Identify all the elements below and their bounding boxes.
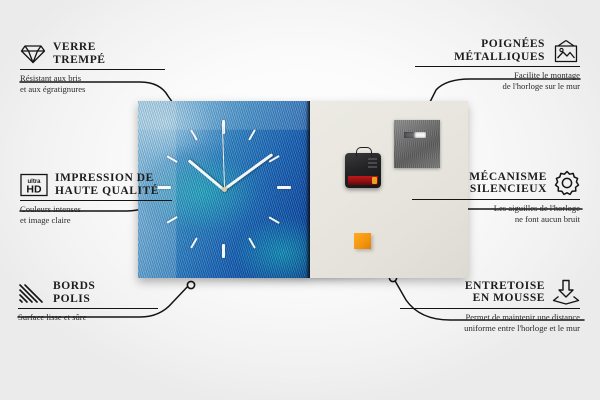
movement-hanger-loop: [356, 147, 372, 157]
gear-icon: [554, 170, 580, 196]
feature-desc-line2: ne font aucun bruit: [412, 214, 580, 224]
tick-6: [222, 244, 225, 258]
battery: [348, 176, 378, 185]
feature-desc-line1: Couleurs intenses: [20, 204, 205, 214]
tick-3: [277, 186, 291, 189]
feature-impression-haute-qualite: ultra HD IMPRESSION DE HAUTE QUALITÉ Cou…: [20, 172, 205, 225]
tick-11: [190, 129, 198, 141]
title-rule: [400, 308, 580, 309]
feature-poignees-metalliques: POIGNÉES MÉTALLIQUES Facilite le montage…: [415, 38, 580, 91]
spacer-pad-icon: [552, 279, 580, 305]
feature-header: MÉCANISME SILENCIEUX: [412, 170, 580, 196]
title-rule: [415, 66, 580, 67]
movement-vents: [368, 158, 377, 170]
tick-10: [166, 155, 178, 163]
wall-frame-icon: [552, 39, 580, 63]
second-hand: [222, 127, 225, 189]
feature-bords-polis: BORDS POLIS Surface lisse et sûre: [18, 280, 188, 323]
feature-header: POIGNÉES MÉTALLIQUES: [415, 38, 580, 63]
hanger-keyhole-slot: [404, 132, 426, 138]
feature-title: BORDS POLIS: [53, 280, 95, 305]
tick-7: [190, 237, 198, 249]
feature-mecanisme-silencieux: MÉCANISME SILENCIEUX Les aiguilles de l'…: [412, 170, 580, 224]
feature-desc-line1: Surface lisse et sûre: [18, 312, 188, 322]
feature-header: BORDS POLIS: [18, 280, 188, 305]
tick-5: [248, 237, 256, 249]
feature-desc-line2: et image claire: [20, 215, 205, 225]
title-rule: [20, 200, 172, 201]
foam-spacer: [354, 233, 371, 249]
feature-desc-line1: Résistant aux bris: [20, 73, 195, 83]
feature-title: MÉCANISME SILENCIEUX: [469, 171, 547, 196]
title-rule: [20, 69, 165, 70]
title-rule: [412, 199, 580, 200]
metal-hanger-plate: [394, 120, 440, 168]
minute-hand: [223, 153, 274, 191]
feature-desc-line2: et aux égratignures: [20, 84, 195, 94]
title-rule: [18, 308, 158, 309]
feature-entretoise-en-mousse: ENTRETOISE EN MOUSSE Permet de maintenir…: [400, 279, 580, 333]
feature-title: POIGNÉES MÉTALLIQUES: [454, 38, 545, 63]
diamond-icon: [20, 43, 46, 65]
polished-edge-icon: [18, 282, 46, 304]
feature-desc-line1: Permet de maintenir une distance: [400, 312, 580, 322]
quartz-movement: [345, 153, 381, 188]
feature-header: ultra HD IMPRESSION DE HAUTE QUALITÉ: [20, 172, 205, 197]
feature-title: IMPRESSION DE HAUTE QUALITÉ: [55, 172, 159, 197]
feature-title: VERRE TREMPÉ: [53, 41, 106, 66]
infographic-canvas: VERRE TREMPÉ Résistant aux bris et aux é…: [0, 0, 600, 400]
feature-desc-line1: Les aiguilles de l'horloge: [412, 203, 580, 213]
feature-desc-line2: de l'horloge sur le mur: [415, 81, 580, 91]
feature-desc-line2: uniforme entre l'horloge et le mur: [400, 323, 580, 333]
svg-text:HD: HD: [26, 183, 42, 195]
feature-header: ENTRETOISE EN MOUSSE: [400, 279, 580, 305]
feature-verre-trempe: VERRE TREMPÉ Résistant aux bris et aux é…: [20, 41, 195, 94]
tick-4: [268, 216, 280, 224]
feature-title: ENTRETOISE EN MOUSSE: [465, 280, 545, 305]
hand-hub: [222, 187, 227, 192]
feature-desc-line1: Facilite le montage: [415, 70, 580, 80]
ultra-hd-icon: ultra HD: [20, 173, 48, 197]
feature-header: VERRE TREMPÉ: [20, 41, 195, 66]
tick-1: [248, 129, 256, 141]
